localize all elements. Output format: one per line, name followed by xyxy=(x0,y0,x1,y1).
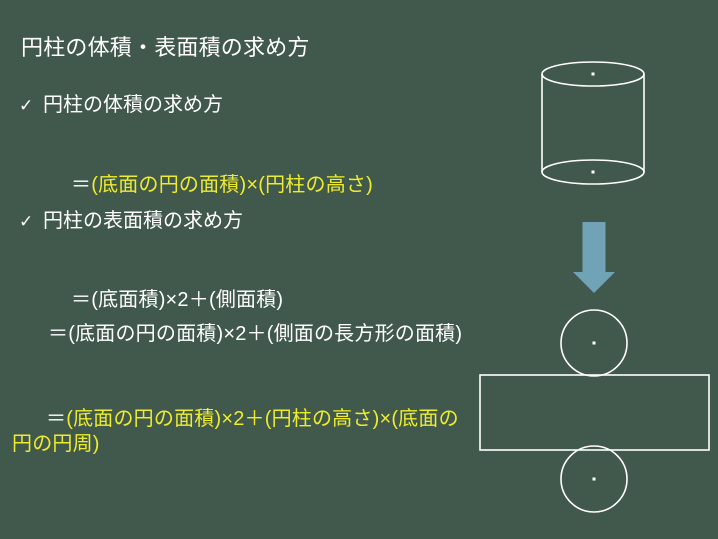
bullet-label-volume: 円柱の体積の求め方 xyxy=(43,88,223,117)
formula-surface-expanded-equals: ＝ xyxy=(48,323,68,345)
down-arrow-icon xyxy=(573,222,615,293)
formula-surface-simple-body: (底面積)×2＋(側面積) xyxy=(91,289,283,311)
cylinder-diagram xyxy=(542,62,644,184)
bullet-label-surface: 円柱の表面積の求め方 xyxy=(43,204,243,233)
formula-surface-final-body: (底面の円の面積)×2＋(円柱の高さ)×(底面の円の円周) xyxy=(12,408,459,455)
formula-volume-body: (底面の円の面積)×(円柱の高さ) xyxy=(91,174,373,196)
cylinder-bottom-ellipse xyxy=(542,160,644,184)
formula-surface-expanded-body: (底面の円の面積)×2＋(側面の長方形の面積) xyxy=(68,323,462,345)
formula-volume-equals: ＝ xyxy=(71,174,91,196)
bullet-item-volume: ✓ 円柱の体積の求め方 xyxy=(19,88,223,117)
check-icon: ✓ xyxy=(19,212,43,232)
cylinder-top-center-dot xyxy=(592,73,595,76)
formula-surface-final: ＝(底面の円の面積)×2＋(円柱の高さ)×(底面の円の円周) xyxy=(12,407,462,457)
formula-surface-simple-equals: ＝ xyxy=(71,289,91,311)
page-title: 円柱の体積・表面積の求め方 xyxy=(21,34,310,62)
formula-surface-final-equals: ＝ xyxy=(46,408,66,430)
cylinder-top-ellipse xyxy=(542,62,644,86)
net-lateral-rectangle xyxy=(480,375,709,450)
check-icon: ✓ xyxy=(19,96,43,116)
slide-canvas: 円柱の体積・表面積の求め方 ✓ 円柱の体積の求め方 ＝(底面の円の面積)×(円柱… xyxy=(0,0,718,539)
bullet-item-surface: ✓ 円柱の表面積の求め方 xyxy=(19,204,243,233)
net-bottom-circle xyxy=(561,446,627,512)
net-top-circle xyxy=(561,310,627,376)
formula-surface-expanded: ＝(底面の円の面積)×2＋(側面の長方形の面積) xyxy=(48,322,471,347)
cylinder-bottom-center-dot xyxy=(592,171,595,174)
